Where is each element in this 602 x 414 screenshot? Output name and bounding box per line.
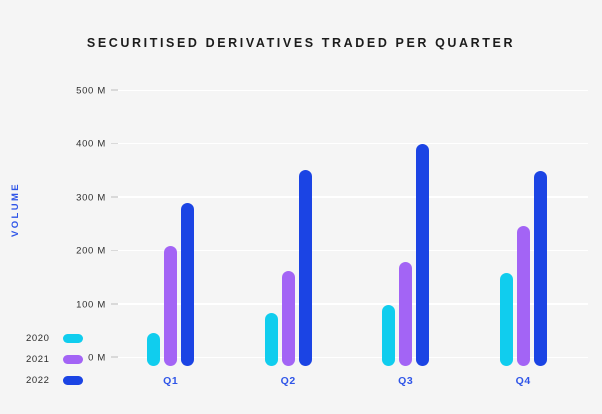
legend-item-label: 2022	[26, 375, 54, 386]
bar[interactable]	[517, 226, 530, 366]
bar[interactable]	[416, 144, 429, 366]
y-axis-tick	[111, 303, 118, 305]
legend-color-swatch	[63, 376, 83, 385]
y-axis-tick-label: 500 M	[58, 86, 106, 97]
y-axis-tick	[111, 196, 118, 198]
bar[interactable]	[164, 246, 177, 366]
bar-group	[500, 171, 547, 366]
chart-container: SECURITISED DERIVATIVES TRADED PER QUART…	[0, 0, 602, 414]
x-axis-tick-label: Q3	[386, 375, 426, 387]
bar[interactable]	[500, 273, 513, 366]
bar[interactable]	[534, 171, 547, 366]
y-axis-tick	[111, 356, 118, 358]
bar-group	[147, 203, 194, 366]
bar[interactable]	[265, 313, 278, 366]
bar[interactable]	[382, 305, 395, 366]
legend-item[interactable]: 2020	[26, 332, 83, 344]
y-axis-tick	[111, 250, 118, 252]
y-axis-tick	[111, 89, 118, 91]
bar[interactable]	[282, 271, 295, 366]
bar[interactable]	[147, 333, 160, 366]
y-axis-tick-label: 400 M	[58, 139, 106, 150]
bar-group	[382, 144, 429, 366]
bar[interactable]	[181, 203, 194, 366]
bar[interactable]	[399, 262, 412, 366]
legend-item[interactable]: 2021	[26, 353, 83, 365]
legend-item[interactable]: 2022	[26, 374, 83, 386]
y-axis-tick-label: 100 M	[58, 299, 106, 310]
legend-item-label: 2020	[26, 333, 54, 344]
x-axis-tick-label: Q1	[151, 375, 191, 387]
x-axis-tick-label: Q4	[503, 375, 543, 387]
legend-item-label: 2021	[26, 354, 54, 365]
bar-group	[265, 170, 312, 366]
y-axis-tick	[111, 143, 118, 145]
y-axis-tick-label: 200 M	[58, 246, 106, 257]
chart-legend: 202020212022	[26, 332, 83, 386]
bar[interactable]	[299, 170, 312, 366]
x-axis-tick-label: Q2	[268, 375, 308, 387]
bars-layer: Q1Q2Q3Q4	[118, 0, 588, 414]
y-axis-tick-label: 300 M	[58, 192, 106, 203]
legend-color-swatch	[63, 334, 83, 343]
legend-color-swatch	[63, 355, 83, 364]
